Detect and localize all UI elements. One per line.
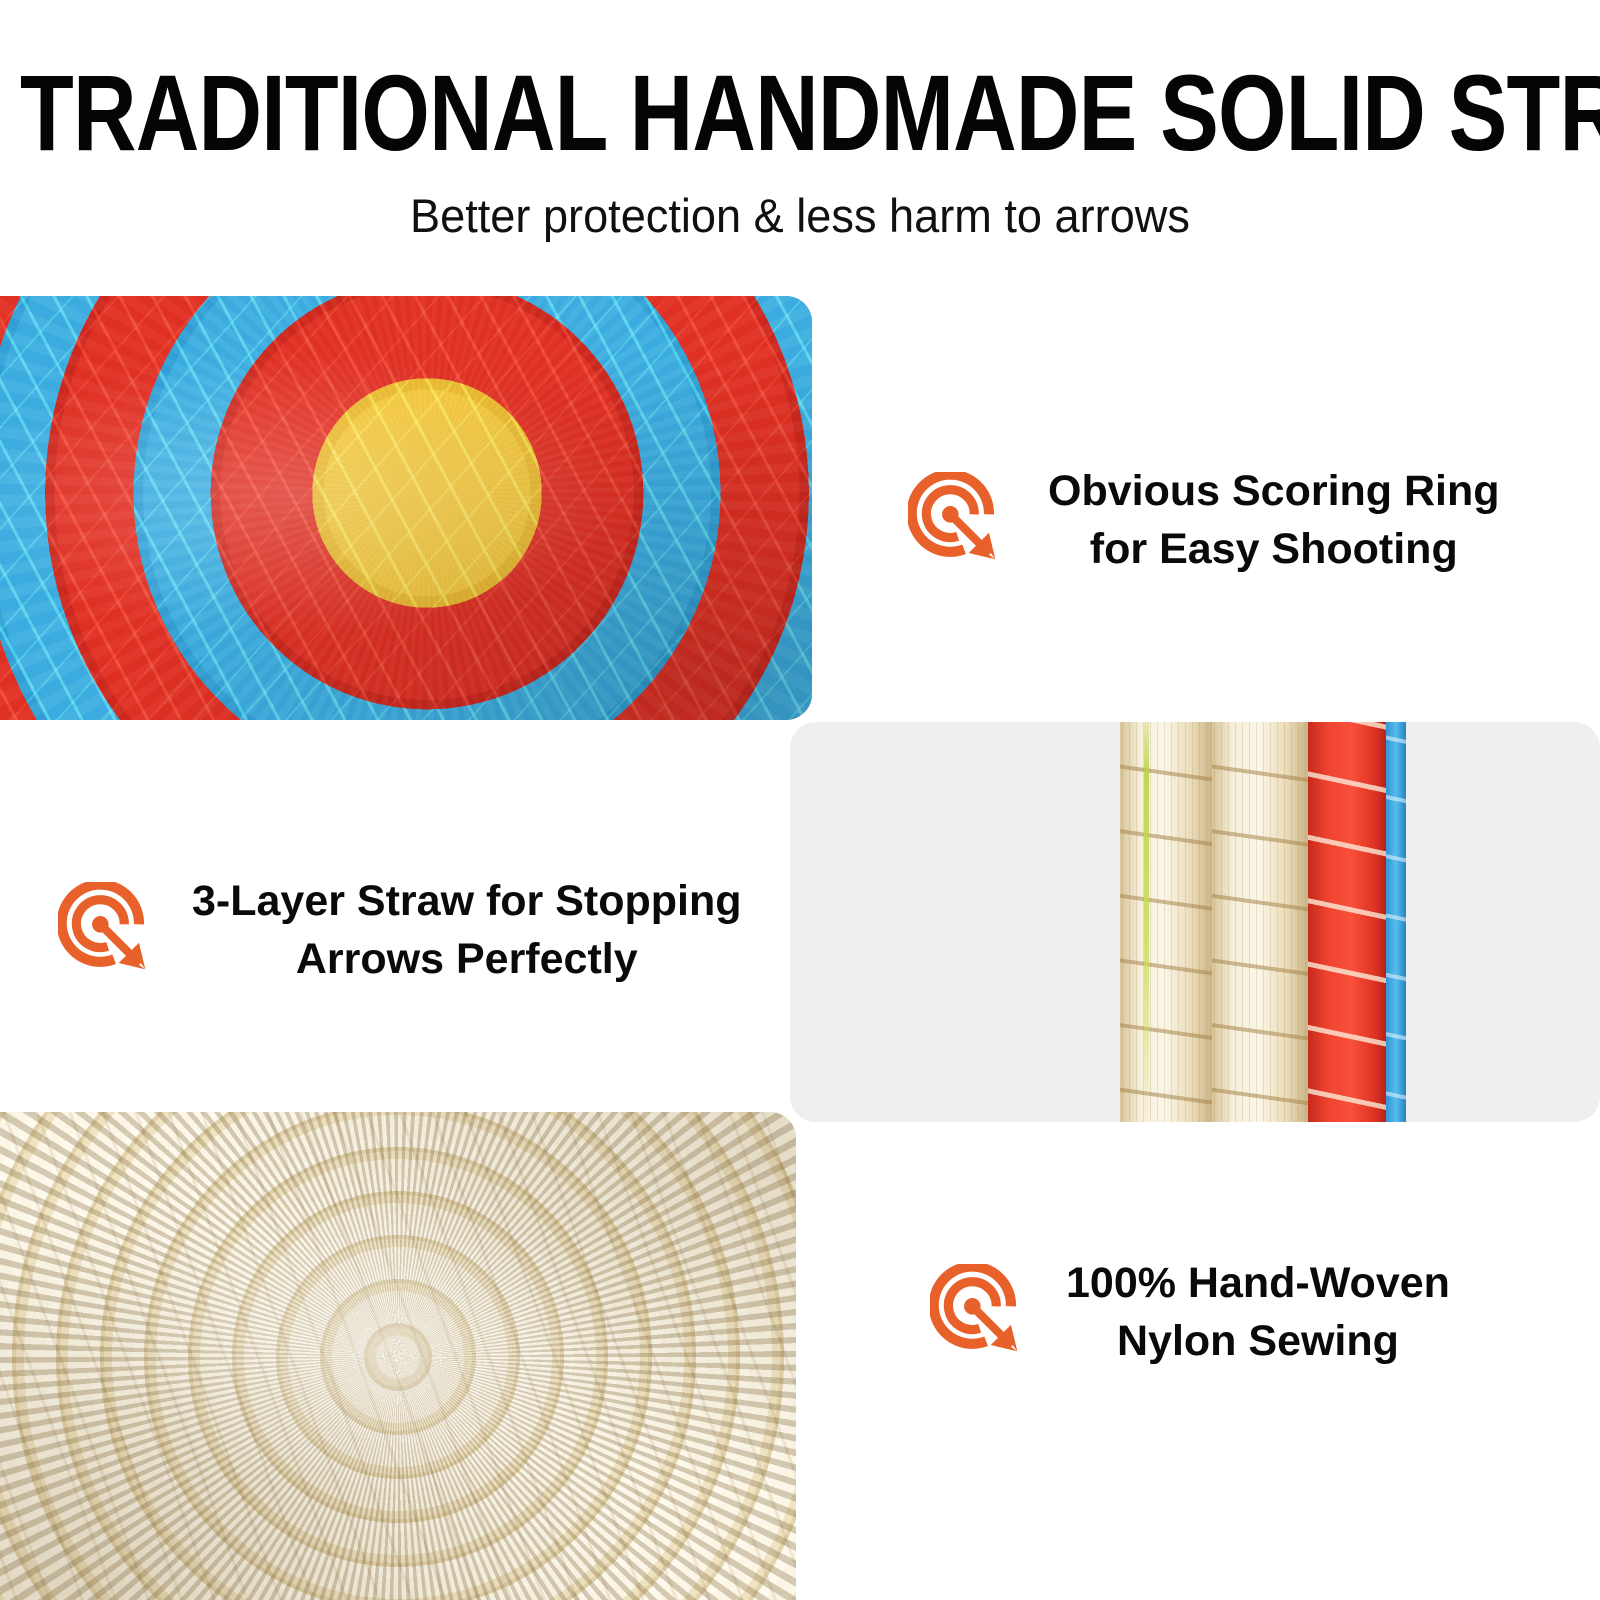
feature-label: Obvious Scoring Ringfor Easy Shooting bbox=[1048, 462, 1500, 578]
feature-hand-woven-nylon: 100% Hand-WovenNylon Sewing bbox=[930, 1254, 1450, 1370]
header-block: TRADITIONAL HANDMADE SOLID STRAW Better … bbox=[0, 0, 1600, 285]
photo-shading bbox=[0, 1112, 796, 1600]
straw-layer-inner bbox=[1212, 722, 1308, 1122]
target-arrow-icon bbox=[930, 1264, 1022, 1361]
straw-layer-outer bbox=[1120, 722, 1212, 1122]
feature-label: 100% Hand-WovenNylon Sewing bbox=[1066, 1254, 1450, 1370]
photo-shading bbox=[0, 296, 812, 720]
green-thread bbox=[1144, 722, 1149, 1122]
target-arrow-icon bbox=[58, 882, 150, 979]
page-subtitle: Better protection & less harm to arrows bbox=[32, 188, 1568, 243]
target-arrow-icon bbox=[908, 472, 1000, 569]
image-straw-back-closeup bbox=[0, 1112, 796, 1600]
page-title: TRADITIONAL HANDMADE SOLID STRAW bbox=[20, 58, 1291, 168]
feature-three-layer-straw: 3-Layer Straw for StoppingArrows Perfect… bbox=[58, 872, 742, 988]
feature-label: 3-Layer Straw for StoppingArrows Perfect… bbox=[192, 872, 742, 988]
feature-obvious-scoring-ring: Obvious Scoring Ringfor Easy Shooting bbox=[908, 462, 1500, 578]
red-face-band bbox=[1308, 722, 1386, 1122]
straw-edge-photo bbox=[1120, 722, 1408, 1122]
image-target-edge-closeup bbox=[790, 722, 1600, 1122]
image-target-face-closeup bbox=[0, 296, 812, 720]
blue-face-band bbox=[1386, 722, 1406, 1122]
